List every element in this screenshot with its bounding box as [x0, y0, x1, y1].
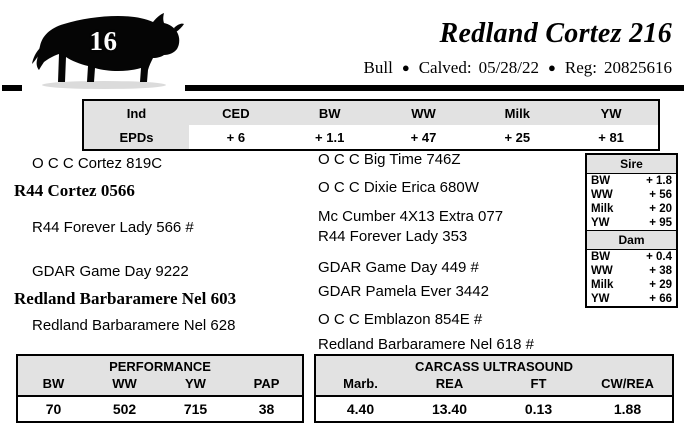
carcass-header-row: Marb. REA FT CW/REA — [316, 375, 672, 396]
dam-trait-ww: WW — [587, 264, 632, 278]
dam-value-bw: + 0.4 — [632, 250, 676, 264]
lot-number: 16 — [22, 4, 185, 92]
sire-trait-bw: BW — [587, 174, 632, 188]
separator-dot-2: ● — [548, 61, 556, 74]
epd-value-bw: + 1.1 — [283, 125, 377, 149]
calved-group: Calved: 05/28/22 — [419, 58, 539, 78]
sire-epd-row-yw: YW + 95 — [587, 216, 676, 230]
carcass-col-marb: Marb. — [316, 375, 405, 396]
epd-col-yw: YW — [564, 101, 658, 125]
performance-caption-row: PERFORMANCE — [18, 356, 302, 375]
epd-row-label: EPDs — [84, 125, 189, 149]
pedigree-sire-of-dam: GDAR Game Day 9222 — [32, 263, 189, 280]
sire-value-ww: + 56 — [632, 188, 676, 202]
bull-photo: 16 — [22, 4, 185, 92]
sire-value-bw: + 1.8 — [632, 174, 676, 188]
animal-subtitle: Bull ● Calved: 05/28/22 ● Reg: 20825616 — [364, 58, 672, 78]
pedigree-gp-sire-4: R44 Forever Lady 353 — [318, 228, 467, 245]
separator-dot-1: ● — [402, 61, 410, 74]
epd-header-row: Ind CED BW WW Milk YW — [84, 101, 658, 125]
performance-table: PERFORMANCE BW WW YW PAP 70 502 715 38 — [16, 354, 304, 423]
pedigree-gp-sire-1: O C C Big Time 746Z — [318, 151, 461, 168]
carcass-caption: CARCASS ULTRASOUND — [316, 356, 672, 375]
performance-col-ww: WW — [89, 375, 160, 396]
calved-label: Calved: — [419, 58, 472, 78]
dam-value-yw: + 66 — [632, 292, 676, 306]
carcass-caption-row: CARCASS ULTRASOUND — [316, 356, 672, 375]
pedigree-gp-dam-4: Redland Barbaramere Nel 618 # — [318, 336, 534, 353]
parent-epd-box: Sire BW + 1.8 WW + 56 Milk + 20 YW + 95 … — [585, 153, 678, 308]
calved-date: 05/28/22 — [479, 58, 539, 78]
pedigree-gp-sire-2: O C C Dixie Erica 680W — [318, 179, 479, 196]
sire-epd-title: Sire — [587, 155, 676, 174]
performance-value-yw: 715 — [160, 396, 231, 421]
performance-header-row: BW WW YW PAP — [18, 375, 302, 396]
pedigree-dam-of-sire: R44 Forever Lady 566 # — [32, 219, 194, 236]
pedigree-gp-dam-2: GDAR Pamela Ever 3442 — [318, 283, 489, 300]
sire-epd-row-bw: BW + 1.8 — [587, 174, 676, 188]
sale-catalog-page: 16 Redland Cortez 216 Bull ● Calved: 05/… — [0, 0, 686, 439]
carcass-value-row: 4.40 13.40 0.13 1.88 — [316, 396, 672, 421]
performance-value-ww: 502 — [89, 396, 160, 421]
animal-sex: Bull — [364, 58, 393, 78]
epd-value-milk: + 25 — [470, 125, 564, 149]
header-rule-right — [185, 85, 684, 91]
epd-value-yw: + 81 — [564, 125, 658, 149]
dam-epd-row-bw: BW + 0.4 — [587, 250, 676, 264]
performance-value-row: 70 502 715 38 — [18, 396, 302, 421]
sire-trait-milk: Milk — [587, 202, 632, 216]
epd-col-bw: BW — [283, 101, 377, 125]
dam-value-ww: + 38 — [632, 264, 676, 278]
reg-label: Reg: — [565, 58, 597, 78]
animal-name: Redland Cortez 216 — [439, 18, 672, 50]
performance-value-bw: 70 — [18, 396, 89, 421]
epd-col-ind: Ind — [84, 101, 189, 125]
dam-epd-row-milk: Milk + 29 — [587, 278, 676, 292]
epd-value-row: EPDs + 6 + 1.1 + 47 + 25 + 81 — [84, 125, 658, 149]
performance-col-yw: YW — [160, 375, 231, 396]
pedigree-dam-name: Redland Barbaramere Nel 603 — [14, 289, 236, 309]
sire-value-yw: + 95 — [632, 216, 676, 230]
carcass-col-rea: REA — [405, 375, 494, 396]
reg-number: 20825616 — [604, 58, 672, 78]
performance-caption: PERFORMANCE — [18, 356, 302, 375]
dam-value-milk: + 29 — [632, 278, 676, 292]
pedigree-gp-dam-3: O C C Emblazon 854E # — [318, 311, 482, 328]
carcass-value-marb: 4.40 — [316, 396, 405, 421]
pedigree-gp-sire-3: Mc Cumber 4X13 Extra 077 — [318, 208, 503, 225]
sire-epd-row-milk: Milk + 20 — [587, 202, 676, 216]
pedigree-sire-name: R44 Cortez 0566 — [14, 181, 135, 201]
pedigree-sire-of-sire: O C C Cortez 819C — [32, 155, 162, 172]
dam-epd-row-yw: YW + 66 — [587, 292, 676, 306]
pedigree-dam-of-dam: Redland Barbaramere Nel 628 — [32, 317, 235, 334]
sire-trait-yw: YW — [587, 216, 632, 230]
registration-group: Reg: 20825616 — [565, 58, 672, 78]
epd-col-milk: Milk — [470, 101, 564, 125]
performance-value-pap: 38 — [231, 396, 302, 421]
performance-col-pap: PAP — [231, 375, 302, 396]
epd-value-ww: + 47 — [377, 125, 471, 149]
sire-value-milk: + 20 — [632, 202, 676, 216]
header-rule-left — [2, 85, 22, 91]
epd-col-ced: CED — [189, 101, 283, 125]
dam-trait-milk: Milk — [587, 278, 632, 292]
dam-trait-bw: BW — [587, 250, 632, 264]
sire-trait-ww: WW — [587, 188, 632, 202]
carcass-value-rea: 13.40 — [405, 396, 494, 421]
sire-epd-row-ww: WW + 56 — [587, 188, 676, 202]
carcass-value-cwrea: 1.88 — [583, 396, 672, 421]
epd-table: Ind CED BW WW Milk YW EPDs + 6 + 1.1 + 4… — [82, 99, 660, 151]
dam-epd-row-ww: WW + 38 — [587, 264, 676, 278]
carcass-col-ft: FT — [494, 375, 583, 396]
carcass-value-ft: 0.13 — [494, 396, 583, 421]
sire-epd-table: BW + 1.8 WW + 56 Milk + 20 YW + 95 — [587, 174, 676, 230]
pedigree-gp-dam-1: GDAR Game Day 449 # — [318, 259, 479, 276]
carcass-ultrasound-table: CARCASS ULTRASOUND Marb. REA FT CW/REA 4… — [314, 354, 674, 423]
carcass-col-cwrea: CW/REA — [583, 375, 672, 396]
dam-epd-table: BW + 0.4 WW + 38 Milk + 29 YW + 66 — [587, 250, 676, 306]
epd-value-ced: + 6 — [189, 125, 283, 149]
performance-col-bw: BW — [18, 375, 89, 396]
epd-col-ww: WW — [377, 101, 471, 125]
dam-trait-yw: YW — [587, 292, 632, 306]
dam-epd-title: Dam — [587, 230, 676, 250]
